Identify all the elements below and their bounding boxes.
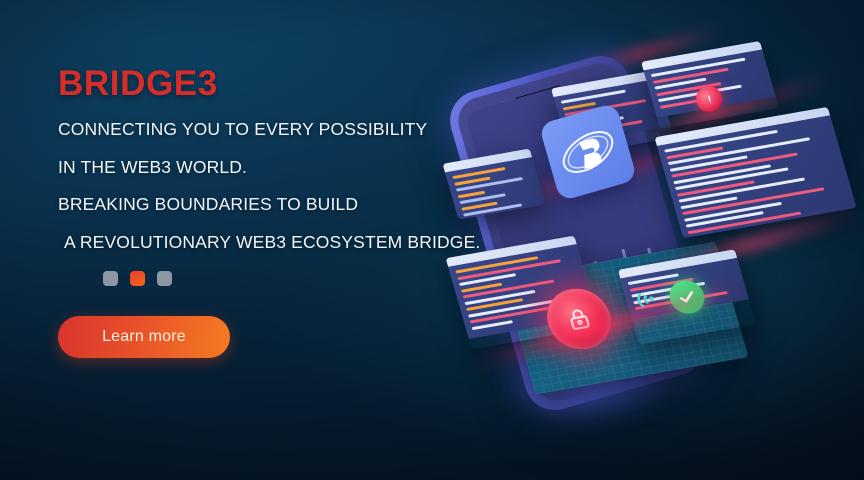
tagline-line: A REVOLUTIONARY WEB3 ECOSYSTEM BRIDGE.	[58, 234, 558, 252]
carousel-dot-1[interactable]	[103, 271, 118, 286]
tagline-line: IN THE WEB3 WORLD.	[58, 159, 558, 177]
page-title: BRIDGE3	[58, 66, 558, 101]
hero-content: BRIDGE3 CONNECTING YOU TO EVERY POSSIBIL…	[58, 66, 558, 358]
carousel-dot-2[interactable]	[130, 271, 145, 286]
carousel-dot-3[interactable]	[157, 271, 172, 286]
carousel-dots[interactable]	[103, 271, 558, 286]
learn-more-button[interactable]: Learn more	[58, 316, 230, 358]
hero-banner: BRIDGE3 CONNECTING YOU TO EVERY POSSIBIL…	[0, 0, 864, 480]
tagline-line: CONNECTING YOU TO EVERY POSSIBILITY	[58, 121, 558, 139]
tagline-line: BREAKING BOUNDARIES TO BUILD	[58, 196, 558, 214]
tagline-list: CONNECTING YOU TO EVERY POSSIBILITY IN T…	[58, 121, 558, 251]
